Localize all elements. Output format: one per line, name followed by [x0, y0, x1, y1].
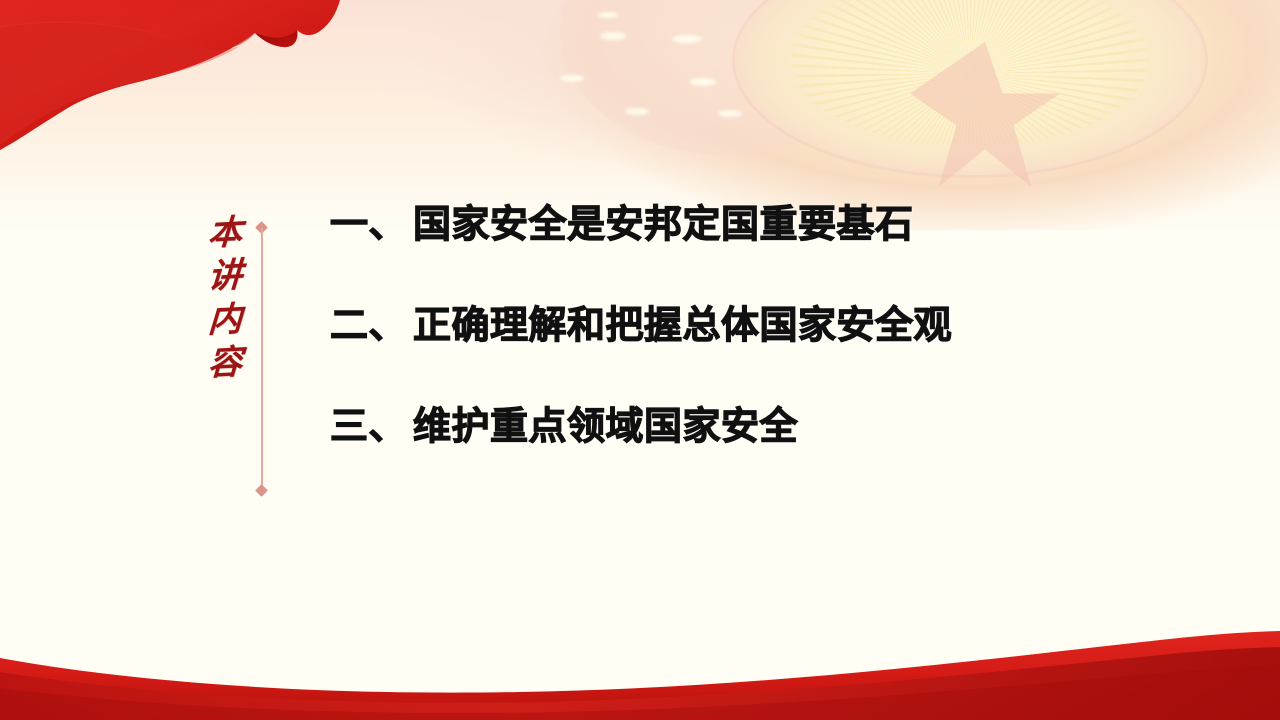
- slide-content: 本 讲 内 容 一、国家安全是安邦定国重要基石 二、正确理解和把握总体国家安全观…: [0, 0, 1280, 720]
- agenda-item-text: 国家安全是安邦定国重要基石: [413, 204, 914, 246]
- section-label-vertical: 本 讲 内 容: [196, 216, 254, 381]
- section-label-char: 本: [207, 215, 243, 252]
- agenda-list: 一、国家安全是安邦定国重要基石 二、正确理解和把握总体国家安全观 三、维护重点领…: [330, 206, 1160, 446]
- divider-line: [261, 228, 263, 490]
- vertical-divider: [260, 220, 263, 498]
- slide-canvas: 本 讲 内 容 一、国家安全是安邦定国重要基石 二、正确理解和把握总体国家安全观…: [0, 0, 1280, 720]
- diamond-bottom-icon: [255, 484, 268, 497]
- agenda-item-text: 正确理解和把握总体国家安全观: [413, 305, 952, 347]
- section-label-char: 容: [207, 345, 243, 382]
- agenda-item-index: 三、: [330, 406, 407, 448]
- agenda-item-1[interactable]: 一、国家安全是安邦定国重要基石: [330, 206, 1160, 244]
- section-label-char: 内: [207, 302, 243, 339]
- section-label-char: 讲: [207, 258, 243, 295]
- agenda-item-2[interactable]: 二、正确理解和把握总体国家安全观: [330, 307, 1160, 345]
- agenda-item-text: 维护重点领域国家安全: [413, 406, 798, 448]
- agenda-item-index: 二、: [330, 305, 407, 347]
- agenda-item-3[interactable]: 三、维护重点领域国家安全: [330, 408, 1160, 446]
- agenda-item-index: 一、: [330, 204, 407, 246]
